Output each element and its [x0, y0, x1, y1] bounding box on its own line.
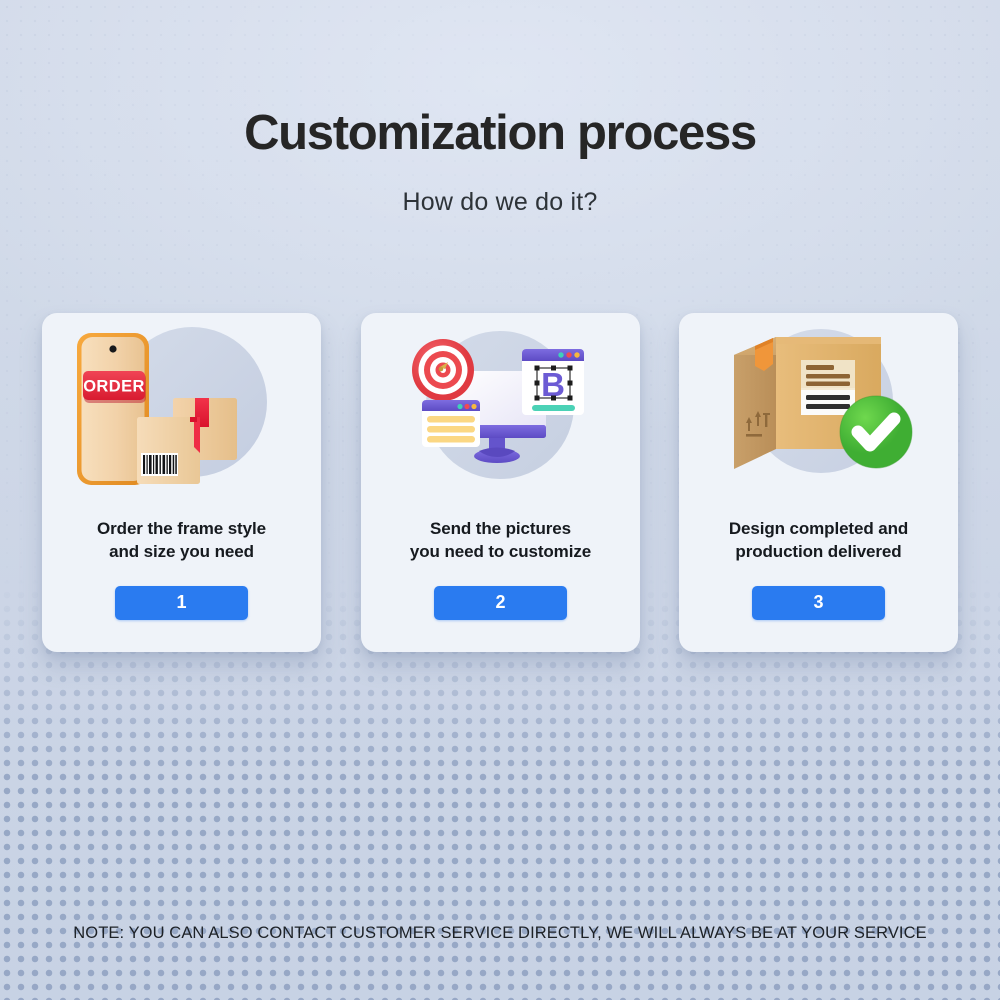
caption-line-2: and size you need: [109, 542, 254, 561]
process-steps-container: ORDER: [42, 313, 958, 652]
caption-line-1: Design completed and: [729, 519, 908, 538]
process-step-card-3[interactable]: Design completed and production delivere…: [679, 313, 958, 652]
caption-line-1: Order the frame style: [97, 519, 266, 538]
step-number-button-1[interactable]: 1: [115, 586, 248, 620]
page-subtitle: How do we do it?: [0, 188, 1000, 217]
header: Customization process How do we do it?: [0, 108, 1000, 217]
caption-line-2: you need to customize: [410, 542, 591, 561]
process-step-card-1[interactable]: ORDER: [42, 313, 321, 652]
step-number-button-2[interactable]: 2: [434, 586, 567, 620]
card-caption: Design completed and production delivere…: [729, 517, 908, 564]
step-number-button-3[interactable]: 3: [752, 586, 885, 620]
monitor-design-target-icon: B: [361, 313, 640, 513]
svg-text:ORDER: ORDER: [83, 378, 145, 396]
footer-note: NOTE: YOU CAN ALSO CONTACT CUSTOMER SERV…: [0, 924, 1000, 943]
caption-line-1: Send the pictures: [430, 519, 571, 538]
card-caption: Order the frame style and size you need: [97, 517, 266, 564]
delivered-box-check-icon: [679, 313, 958, 513]
phone-order-boxes-icon: ORDER: [42, 313, 321, 513]
page-title: Customization process: [0, 108, 1000, 159]
process-step-card-2[interactable]: B Send the pictures you need to customiz…: [361, 313, 640, 652]
caption-line-2: production delivered: [735, 542, 901, 561]
card-caption: Send the pictures you need to customize: [410, 517, 591, 564]
